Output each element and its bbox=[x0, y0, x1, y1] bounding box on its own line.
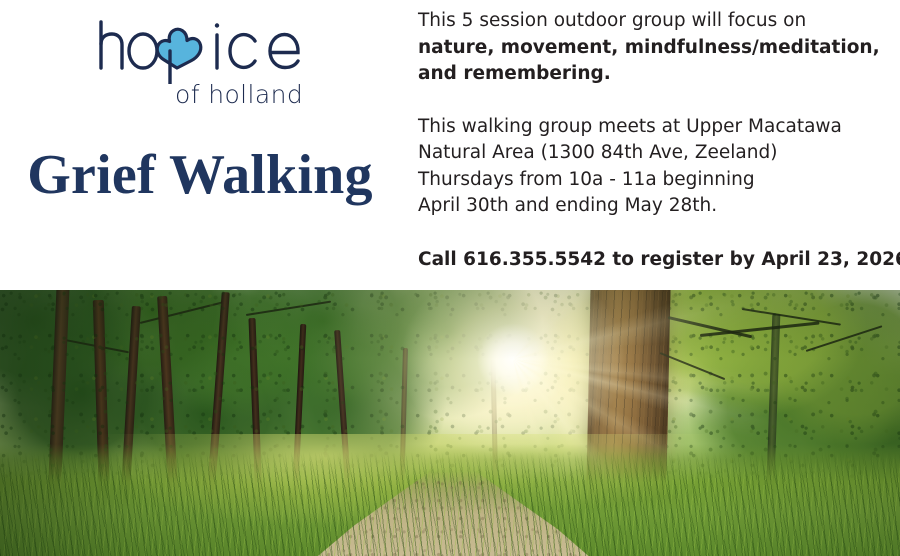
forest-photo-inner bbox=[0, 290, 900, 556]
details-paragraph: This walking group meets at Upper Macata… bbox=[418, 114, 888, 220]
lead-plain-text: This 5 session outdoor group will focus … bbox=[418, 10, 806, 31]
details-line: This walking group meets at Upper Macata… bbox=[418, 114, 888, 141]
logo-tagline: of holland bbox=[175, 80, 303, 109]
lead-paragraph: This 5 session outdoor group will focus … bbox=[418, 8, 888, 88]
lead-emphasis-text: nature, movement, mindfulness/meditation… bbox=[418, 37, 880, 85]
details-line: Thursdays from 10a - 11a beginning bbox=[418, 167, 888, 194]
header-panel: of holland Grief Walking This 5 session … bbox=[0, 0, 900, 290]
hospice-of-holland-logo: of holland bbox=[95, 18, 325, 118]
details-line: Natural Area (1300 84th Ave, Zeeland) bbox=[418, 140, 888, 167]
brand-block: of holland Grief Walking bbox=[0, 0, 400, 290]
page-title: Grief Walking bbox=[0, 146, 400, 205]
details-line: April 30th and ending May 28th. bbox=[418, 193, 888, 220]
flyer-page: of holland Grief Walking This 5 session … bbox=[0, 0, 900, 556]
heart-icon bbox=[157, 29, 201, 84]
copy-block: This 5 session outdoor group will focus … bbox=[418, 8, 888, 273]
photo-vignette bbox=[0, 290, 900, 556]
call-to-action-text: Call 616.355.5542 to register by April 2… bbox=[418, 247, 888, 274]
logo-wordmark-svg bbox=[95, 18, 325, 84]
forest-photo bbox=[0, 290, 900, 556]
logo-wordmark bbox=[95, 18, 325, 84]
